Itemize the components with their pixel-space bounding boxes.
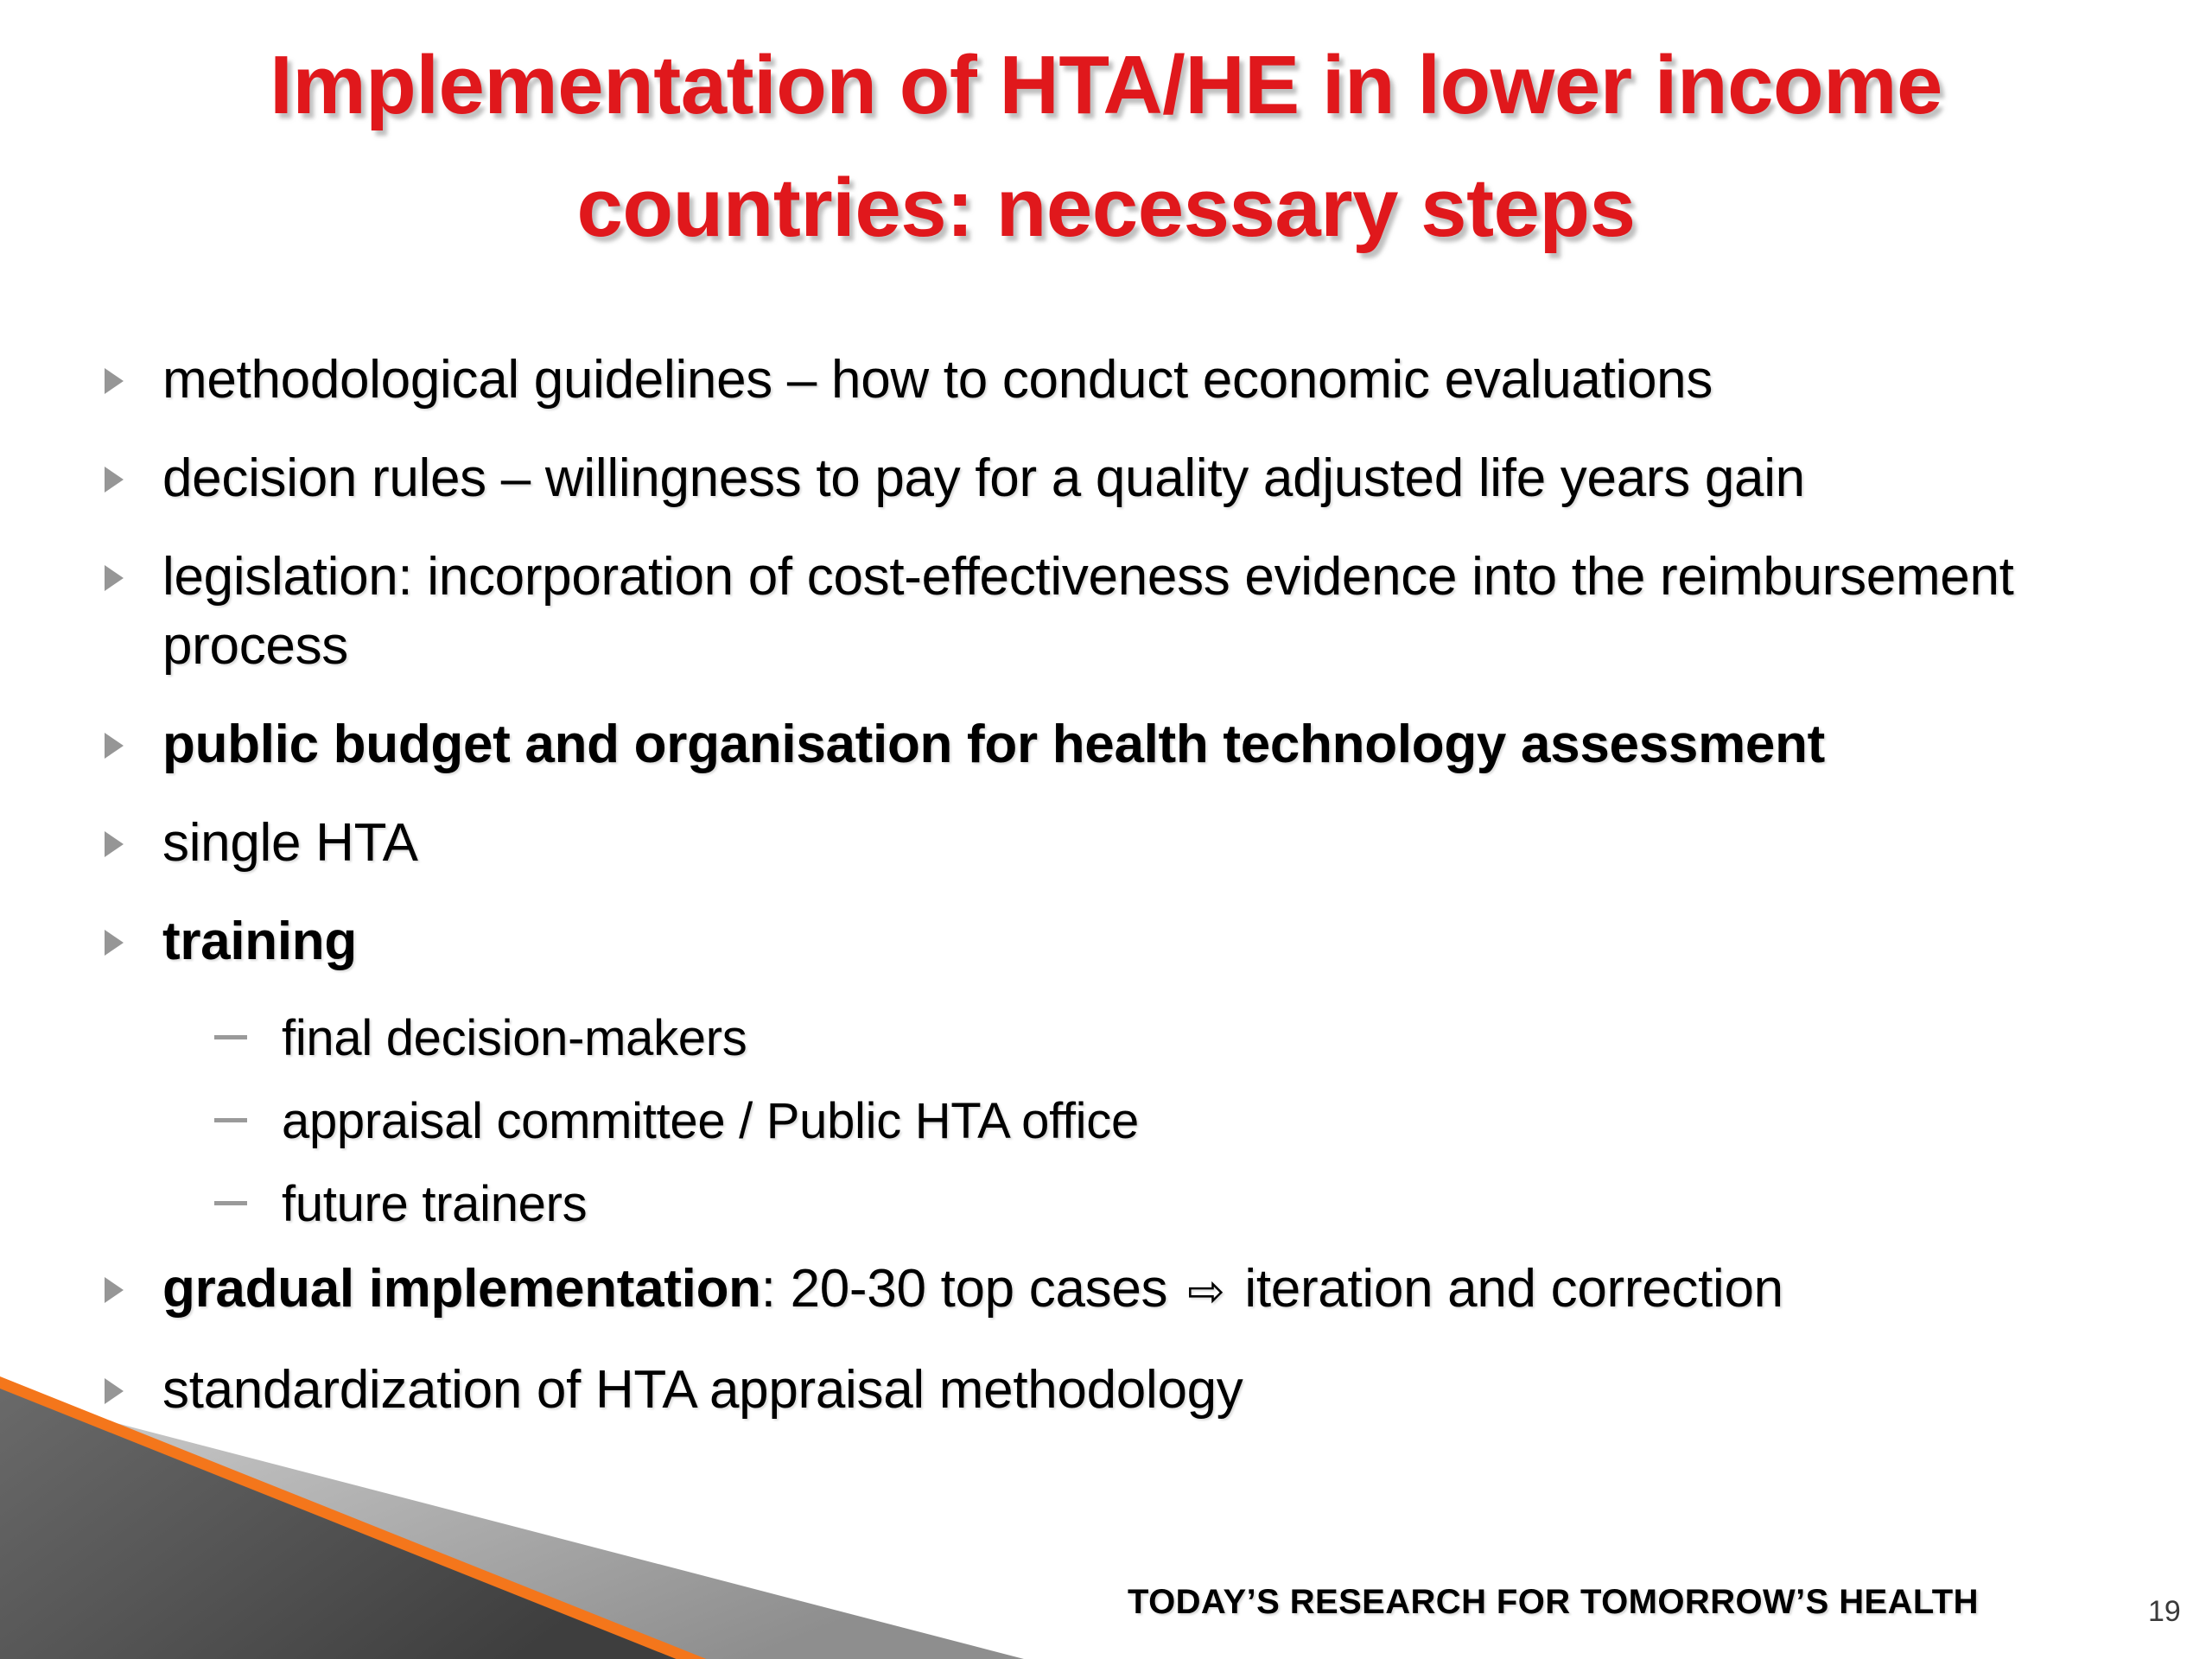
bullet-emphasis: gradual implementation [162, 1259, 761, 1319]
slide-canvas: Implementation of HTA/HE in lower income… [0, 0, 2212, 1659]
title-line-1: Implementation of HTA/HE in lower income [0, 24, 2212, 147]
bullet-text: methodological guidelines – how to condu… [162, 346, 2063, 415]
dash-bullet-icon [214, 1032, 247, 1042]
sub-bullet-text: final decision-makers [282, 1006, 2183, 1071]
triangle-bullet-icon [102, 563, 126, 593]
sub-bullet-item: final decision-makers [0, 1006, 2212, 1071]
dash-bullet-icon [214, 1198, 247, 1208]
bullet-item: standardization of HTA appraisal methodo… [0, 1356, 2212, 1425]
bullet-list: methodological guidelines – how to condu… [0, 346, 2212, 1454]
triangle-bullet-icon [102, 1376, 126, 1406]
triangle-bullet-icon [102, 465, 126, 494]
slide-title: Implementation of HTA/HE in lower income… [0, 24, 2212, 270]
bullet-text: training [162, 907, 2063, 976]
page-number: 19 [2148, 1595, 2181, 1629]
dash-bullet-icon [214, 1115, 247, 1125]
triangle-bullet-icon [102, 731, 126, 760]
bullet-item: public budget and organisation for healt… [0, 710, 2212, 779]
right-arrow-icon: ⇨ [1182, 1266, 1230, 1318]
bullet-item: training [0, 907, 2212, 976]
bullet-text: public budget and organisation for healt… [162, 710, 2063, 779]
triangle-bullet-icon [102, 928, 126, 957]
title-line-2: countries: necessary steps [0, 147, 2212, 270]
sub-bullet-text: appraisal committee / Public HTA office [282, 1089, 2183, 1154]
bullet-item: gradual implementation: 20-30 top cases … [0, 1255, 2212, 1326]
bullet-text: legislation: incorporation of cost-effec… [162, 543, 2063, 681]
triangle-bullet-icon [102, 366, 126, 396]
bullet-item: methodological guidelines – how to condu… [0, 346, 2212, 415]
sub-bullet-item: appraisal committee / Public HTA office [0, 1089, 2212, 1154]
sub-bullet-text: future trainers [282, 1172, 2183, 1237]
bullet-item: legislation: incorporation of cost-effec… [0, 543, 2212, 681]
triangle-bullet-icon [102, 829, 126, 859]
sub-bullet-item: future trainers [0, 1172, 2212, 1237]
bullet-text: single HTA [162, 809, 2063, 878]
bullet-text: decision rules – willingness to pay for … [162, 444, 2063, 513]
bullet-mid-text: : 20-30 top cases [761, 1259, 1182, 1319]
bullet-text-rich: gradual implementation: 20-30 top cases … [162, 1255, 2063, 1326]
bullet-item: single HTA [0, 809, 2212, 878]
bullet-tail-text: iteration and correction [1230, 1259, 1783, 1319]
bullet-item: decision rules – willingness to pay for … [0, 444, 2212, 513]
footer-tagline: TODAY’S RESEARCH FOR TOMORROW’S HEALTH [1128, 1583, 1979, 1622]
triangle-bullet-icon [102, 1275, 126, 1305]
bullet-text: standardization of HTA appraisal methodo… [162, 1356, 2063, 1425]
